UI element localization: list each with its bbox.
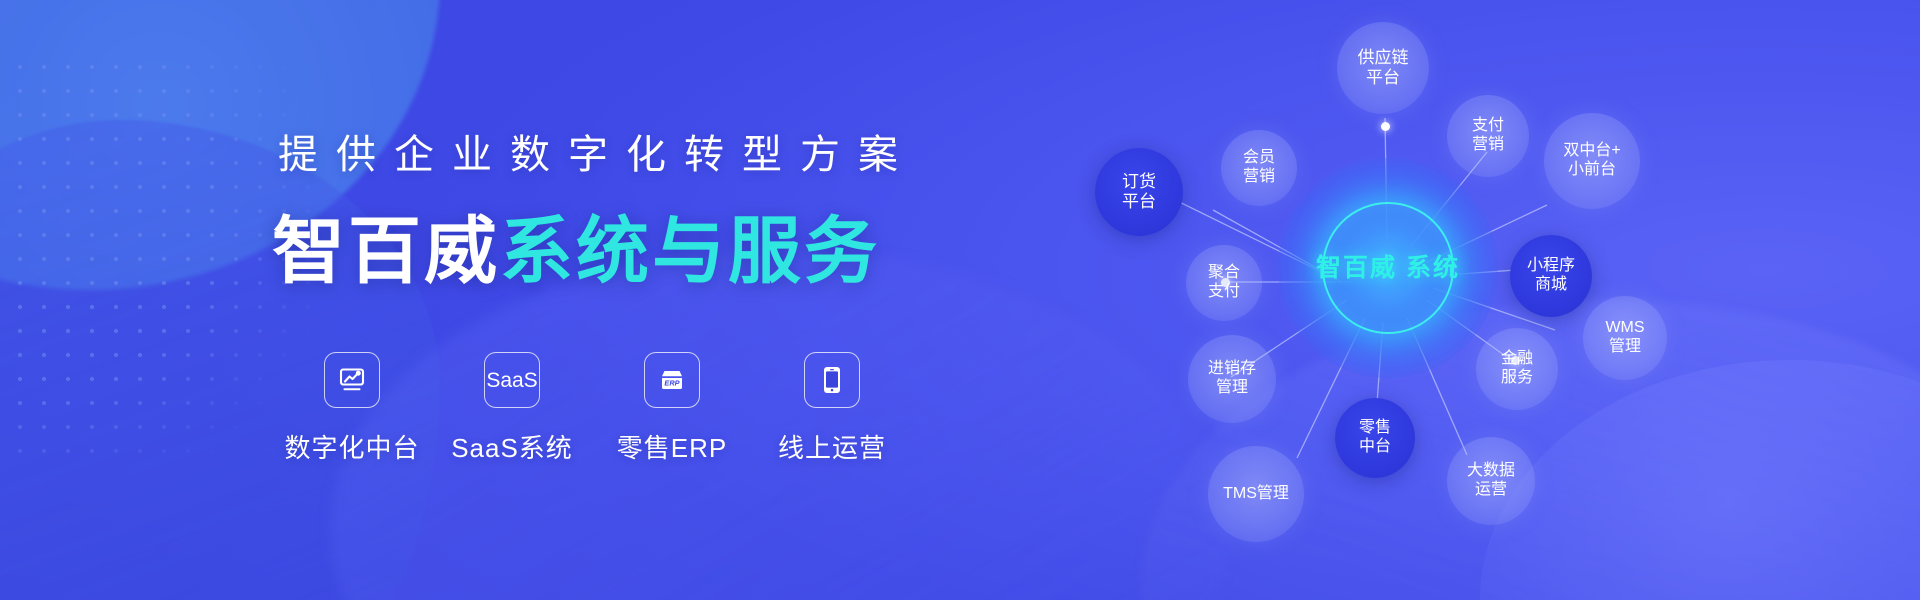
node-line-2: 平台 [1366,68,1400,88]
feature-label: 数字化中台 [284,428,419,465]
node-line-1: 小程序 [1527,257,1575,276]
feature-icon-box [804,352,860,408]
diagram-node-retail-midend[interactable]: 零售 中台 [1335,398,1415,478]
node-line-1: 支付 [1472,117,1504,136]
banner-title-brand: 智百威 [272,211,500,292]
diagram-node-mini-program-mall[interactable]: 小程序 商城 [1510,235,1592,317]
node-line-1: TMS管理 [1223,485,1289,504]
diagram-node-member-marketing[interactable]: 会员 营销 [1221,130,1297,206]
banner-subtitle: 提供企业数字化转型方案 [278,122,916,180]
feature-item-retail-erp[interactable]: ERP 零售ERP [592,352,752,465]
diagram-center-node: 智百威 系统 [1278,158,1498,378]
feature-item-digital-midend[interactable]: 数字化中台 [272,352,432,465]
node-line-1: 订货 [1122,172,1156,192]
diagram-node-bigdata-operation[interactable]: 大数据 运营 [1447,437,1535,525]
node-line-2: 中台 [1359,438,1391,457]
node-line-2: 管理 [1609,338,1641,357]
diagram-node-tms-management[interactable]: TMS管理 [1208,446,1304,542]
feature-icon-box [324,352,380,408]
node-line-2: 营销 [1243,168,1275,187]
diagram-node-dual-midend[interactable]: 双中台+ 小前台 [1544,113,1640,209]
node-line-2: 管理 [1216,379,1248,398]
saas-text-icon: SaaS [486,370,537,391]
feature-item-online-operation[interactable]: 线上运营 [752,352,912,465]
node-line-2: 支付 [1208,283,1240,302]
diagram-node-financial-services[interactable]: 金融 服务 [1476,328,1558,410]
node-line-2: 小前台 [1568,161,1616,180]
node-line-1: 金融 [1501,350,1533,369]
node-line-2: 商城 [1535,276,1567,295]
node-line-2: 运营 [1475,481,1507,500]
node-line-2: 营销 [1472,136,1504,155]
feature-list: 数字化中台 SaaS SaaS系统 ERP [272,352,912,465]
node-line-1: 进销存 [1208,360,1256,379]
node-line-1: 供应链 [1358,48,1409,68]
node-line-1: WMS [1605,319,1644,338]
banner-title: 智百威系统与服务 [272,192,880,298]
center-label: 智百威 系统 [1316,253,1460,283]
diagram-node-aggregate-payment[interactable]: 聚合 支付 [1186,245,1262,321]
node-line-2: 服务 [1501,369,1533,388]
feature-label: SaaS系统 [451,428,573,465]
node-line-1: 零售 [1359,419,1391,438]
promo-banner: 提供企业数字化转型方案 智百威系统与服务 数字化中台 [0,0,1920,600]
center-label-line1: 智百威 [1316,254,1397,282]
diagram-node-inventory-management[interactable]: 进销存 管理 [1188,335,1276,423]
diagram-node-supply-chain-platform[interactable]: 供应链 平台 [1337,22,1429,114]
banner-copy: 提供企业数字化转型方案 智百威系统与服务 数字化中台 [0,0,1060,600]
feature-icon-box: SaaS [484,352,540,408]
system-ecosystem-diagram: 智百威 系统 供应链 平台 支付 营销 双中台+ 小前台 小程序 商城 WMS … [1035,0,1920,600]
diagram-node-order-platform[interactable]: 订货 平台 [1095,148,1183,236]
svg-text:ERP: ERP [664,378,679,387]
feature-item-saas[interactable]: SaaS SaaS系统 [432,352,592,465]
feature-icon-box: ERP [644,352,700,408]
node-line-1: 大数据 [1467,462,1515,481]
node-line-1: 会员 [1243,149,1275,168]
node-line-2: 平台 [1122,192,1156,212]
diagram-node-wms-management[interactable]: WMS 管理 [1583,296,1667,380]
node-line-1: 聚合 [1208,264,1240,283]
erp-box-icon: ERP [656,365,688,395]
diagram-node-payment-marketing[interactable]: 支付 营销 [1447,95,1529,177]
banner-title-accent: 系统与服务 [500,211,880,292]
feature-label: 零售ERP [617,428,727,465]
node-line-1: 双中台+ [1563,142,1620,161]
connector-dot-top [1381,122,1390,131]
mobile-phone-icon [819,364,845,396]
chart-image-icon [337,365,367,395]
feature-label: 线上运营 [778,428,886,465]
center-label-line2: 系统 [1406,254,1460,282]
